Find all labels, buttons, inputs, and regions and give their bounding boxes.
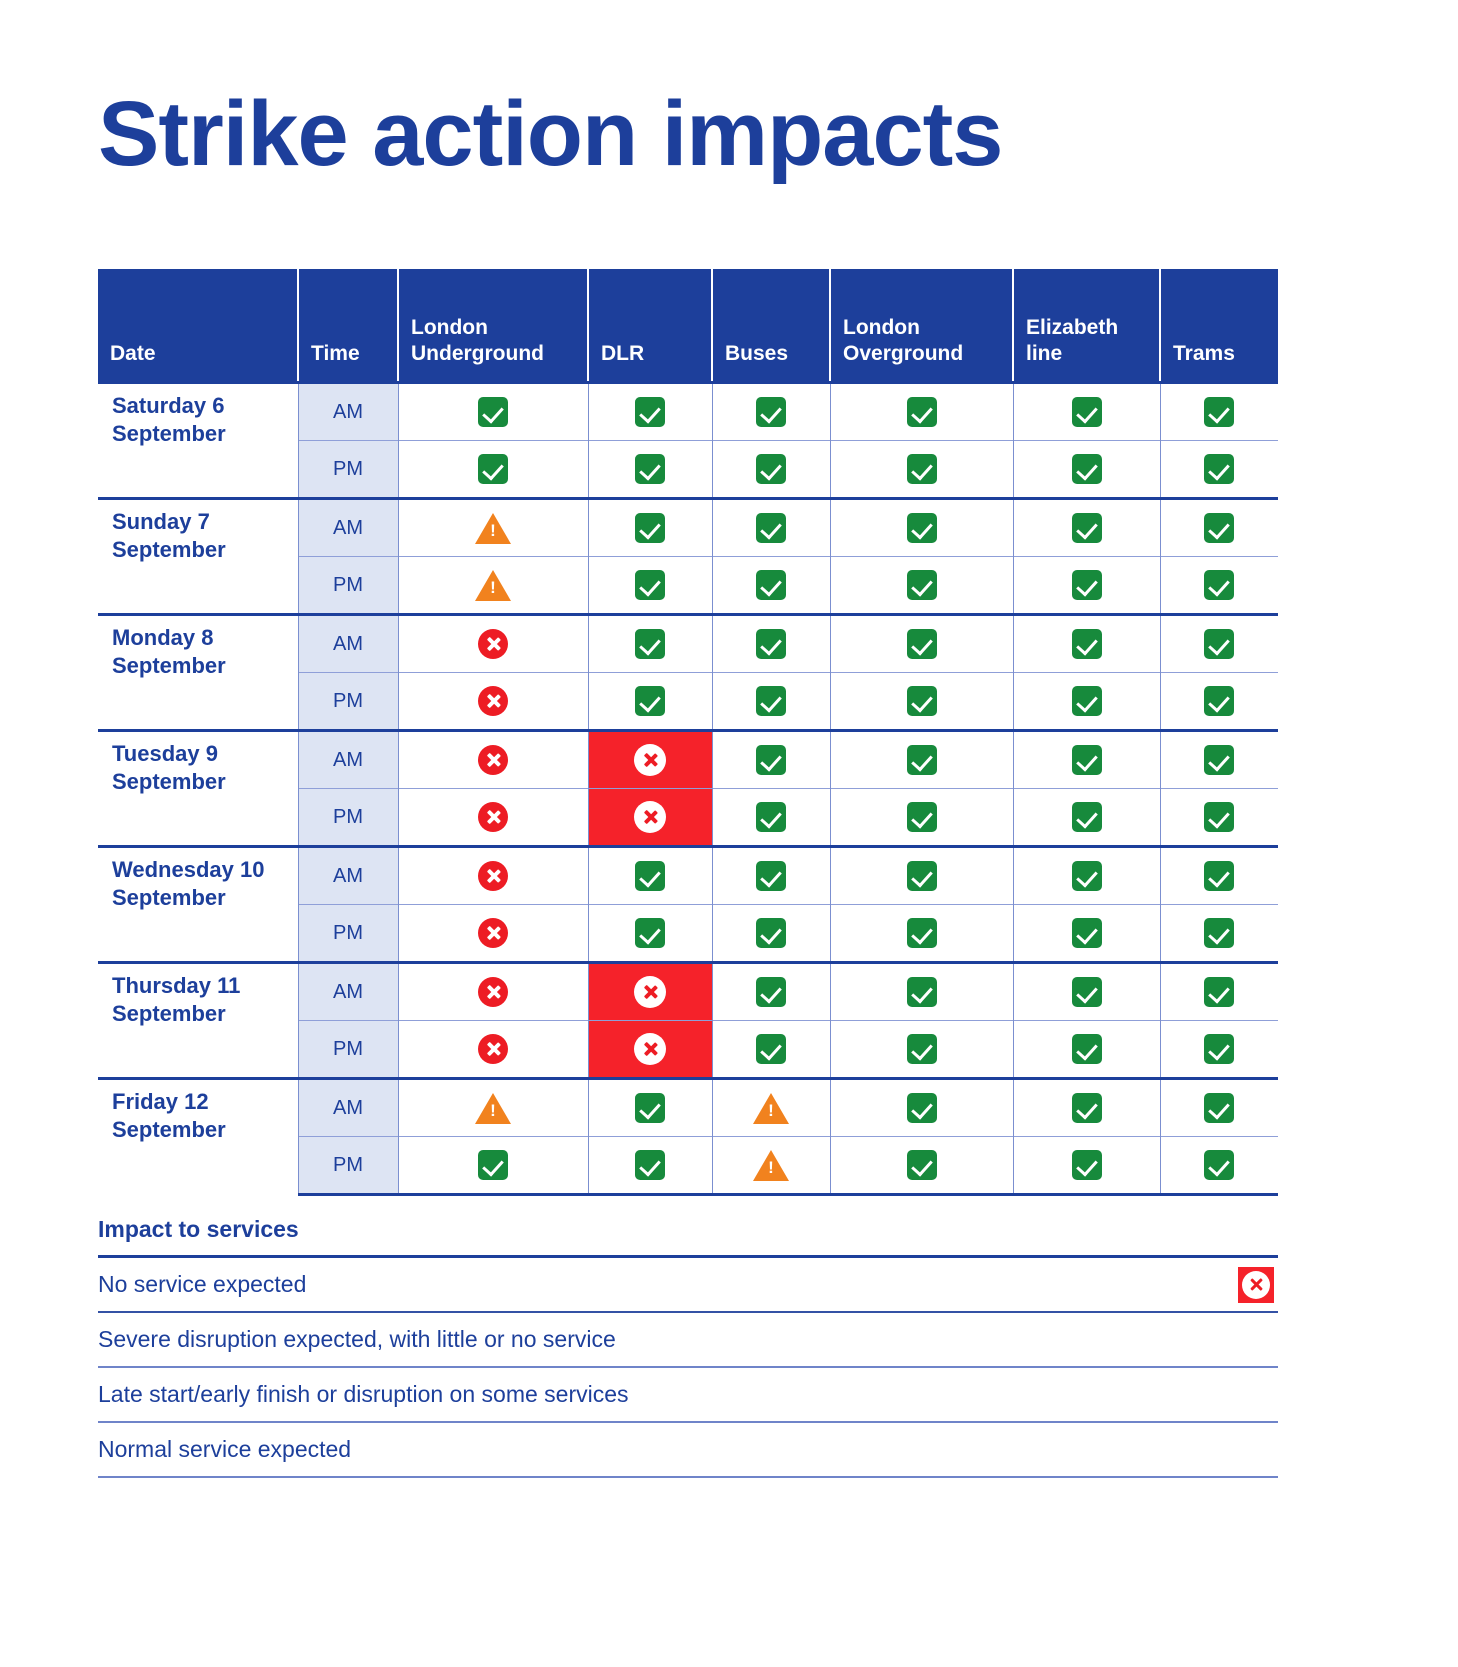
status-cell-elizabeth-line	[1013, 1137, 1160, 1195]
severe-disruption-icon	[478, 629, 508, 659]
status-cell-dlr	[588, 731, 712, 789]
status-cell-london-underground	[398, 557, 588, 615]
check-icon	[907, 397, 937, 427]
time-cell: PM	[298, 441, 398, 499]
status-cell-london-overground	[830, 499, 1013, 557]
check-icon	[756, 454, 786, 484]
status-cell-elizabeth-line	[1013, 673, 1160, 731]
legend-item-label: Normal service expected	[98, 1436, 351, 1463]
status-cell-dlr	[588, 615, 712, 673]
status-cell-london-underground	[398, 789, 588, 847]
check-icon	[1072, 686, 1102, 716]
status-cell-trams	[1160, 789, 1278, 847]
legend-item-icon	[1234, 1267, 1278, 1303]
check-icon	[756, 918, 786, 948]
status-cell-trams	[1160, 615, 1278, 673]
status-cell-trams	[1160, 1137, 1278, 1195]
check-icon	[1204, 570, 1234, 600]
status-cell-buses	[712, 557, 830, 615]
check-icon	[1072, 1150, 1102, 1180]
status-cell-dlr	[588, 789, 712, 847]
check-icon	[907, 570, 937, 600]
status-cell-buses	[712, 1021, 830, 1079]
column-header-elizabeth-line: Elizabethline	[1013, 269, 1160, 383]
check-icon	[1238, 1432, 1274, 1468]
check-icon	[1072, 454, 1102, 484]
status-cell-dlr	[588, 557, 712, 615]
status-cell-trams	[1160, 441, 1278, 499]
check-icon	[1204, 977, 1234, 1007]
check-icon	[1072, 1034, 1102, 1064]
check-icon	[635, 1093, 665, 1123]
check-icon	[1204, 629, 1234, 659]
time-cell: AM	[298, 1079, 398, 1137]
status-cell-london-overground	[830, 963, 1013, 1021]
status-cell-dlr	[588, 499, 712, 557]
impacts-table: DateTimeLondonUndergroundDLRBusesLondonO…	[98, 269, 1278, 1196]
check-icon	[907, 918, 937, 948]
check-icon	[1072, 918, 1102, 948]
impacts-table-body: Saturday 6 SeptemberAMPMSunday 7 Septemb…	[98, 383, 1278, 1195]
status-cell-dlr	[588, 1021, 712, 1079]
column-header-date: Date	[98, 269, 298, 383]
status-cell-dlr	[588, 1137, 712, 1195]
check-icon	[1072, 861, 1102, 891]
check-icon	[635, 861, 665, 891]
warning-triangle-icon	[753, 1150, 789, 1181]
status-cell-trams	[1160, 673, 1278, 731]
legend-item-icon	[1234, 1432, 1278, 1468]
check-icon	[635, 454, 665, 484]
status-cell-buses	[712, 905, 830, 963]
status-cell-london-underground	[398, 615, 588, 673]
status-cell-dlr	[588, 383, 712, 441]
status-cell-london-overground	[830, 1079, 1013, 1137]
time-cell: AM	[298, 731, 398, 789]
status-cell-trams	[1160, 963, 1278, 1021]
legend-item-label: No service expected	[98, 1271, 306, 1298]
check-icon	[1072, 570, 1102, 600]
check-icon	[907, 1150, 937, 1180]
column-header-trams: Trams	[1160, 269, 1278, 383]
status-cell-buses	[712, 847, 830, 905]
check-icon	[635, 513, 665, 543]
time-cell: PM	[298, 905, 398, 963]
check-icon	[1204, 513, 1234, 543]
status-cell-elizabeth-line	[1013, 557, 1160, 615]
status-cell-london-underground	[398, 847, 588, 905]
status-cell-london-underground	[398, 499, 588, 557]
check-icon	[1204, 397, 1234, 427]
status-cell-london-underground	[398, 1137, 588, 1195]
warning-triangle-icon	[475, 570, 511, 601]
warning-triangle-icon	[753, 1093, 789, 1124]
severe-disruption-icon	[478, 686, 508, 716]
date-cell: Saturday 6 September	[98, 383, 298, 499]
status-cell-london-overground	[830, 441, 1013, 499]
legend-rows: No service expectedSevere disruption exp…	[98, 1258, 1278, 1478]
status-cell-dlr	[588, 1079, 712, 1137]
time-cell: AM	[298, 499, 398, 557]
warning-triangle-icon	[475, 513, 511, 544]
legend-item: No service expected	[98, 1258, 1278, 1313]
status-cell-elizabeth-line	[1013, 441, 1160, 499]
status-cell-london-underground	[398, 441, 588, 499]
status-cell-trams	[1160, 905, 1278, 963]
status-cell-trams	[1160, 1021, 1278, 1079]
check-icon	[907, 861, 937, 891]
check-icon	[1204, 1034, 1234, 1064]
table-row: Friday 12 SeptemberAM	[98, 1079, 1278, 1137]
check-icon	[1204, 861, 1234, 891]
status-cell-trams	[1160, 731, 1278, 789]
status-cell-london-overground	[830, 673, 1013, 731]
severe-disruption-icon	[478, 1034, 508, 1064]
status-cell-london-underground	[398, 1021, 588, 1079]
status-cell-trams	[1160, 499, 1278, 557]
status-cell-elizabeth-line	[1013, 615, 1160, 673]
status-cell-london-underground	[398, 731, 588, 789]
legend-item: Normal service expected	[98, 1423, 1278, 1478]
legend-title: Impact to services	[98, 1216, 1278, 1258]
legend-item: Late start/early finish or disruption on…	[98, 1368, 1278, 1423]
check-icon	[635, 629, 665, 659]
legend-item-icon	[1234, 1322, 1278, 1358]
date-cell: Tuesday 9 September	[98, 731, 298, 847]
check-icon	[756, 745, 786, 775]
status-cell-elizabeth-line	[1013, 847, 1160, 905]
check-icon	[756, 570, 786, 600]
time-cell: PM	[298, 557, 398, 615]
check-icon	[907, 513, 937, 543]
time-cell: AM	[298, 383, 398, 441]
check-icon	[907, 977, 937, 1007]
status-cell-buses	[712, 789, 830, 847]
status-cell-trams	[1160, 1079, 1278, 1137]
status-cell-london-overground	[830, 789, 1013, 847]
time-cell: AM	[298, 615, 398, 673]
status-cell-elizabeth-line	[1013, 789, 1160, 847]
check-icon	[756, 513, 786, 543]
table-row: Tuesday 9 SeptemberAM	[98, 731, 1278, 789]
table-row: Monday 8 SeptemberAM	[98, 615, 1278, 673]
status-cell-london-overground	[830, 847, 1013, 905]
severe-disruption-icon	[478, 918, 508, 948]
time-cell: PM	[298, 673, 398, 731]
time-cell: PM	[298, 1137, 398, 1195]
impacts-table-container: DateTimeLondonUndergroundDLRBusesLondonO…	[98, 269, 1278, 1196]
status-cell-london-underground	[398, 1079, 588, 1137]
table-row: Sunday 7 SeptemberAM	[98, 499, 1278, 557]
status-cell-elizabeth-line	[1013, 1079, 1160, 1137]
check-icon	[756, 629, 786, 659]
check-icon	[907, 1034, 937, 1064]
header-row: DateTimeLondonUndergroundDLRBusesLondonO…	[98, 269, 1278, 383]
check-icon	[635, 686, 665, 716]
severe-disruption-icon	[1238, 1322, 1274, 1358]
impacts-table-head: DateTimeLondonUndergroundDLRBusesLondonO…	[98, 269, 1278, 383]
check-icon	[907, 745, 937, 775]
check-icon	[1204, 454, 1234, 484]
legend: Impact to services No service expectedSe…	[98, 1216, 1278, 1478]
status-cell-dlr	[588, 441, 712, 499]
no-service-icon	[1238, 1267, 1274, 1303]
status-cell-london-overground	[830, 383, 1013, 441]
status-cell-london-underground	[398, 383, 588, 441]
status-cell-buses	[712, 963, 830, 1021]
check-icon	[478, 397, 508, 427]
status-cell-trams	[1160, 383, 1278, 441]
check-icon	[1072, 629, 1102, 659]
status-cell-buses	[712, 615, 830, 673]
no-service-icon	[634, 744, 666, 776]
status-cell-london-underground	[398, 673, 588, 731]
status-cell-london-underground	[398, 905, 588, 963]
check-icon	[907, 454, 937, 484]
check-icon	[635, 570, 665, 600]
status-cell-london-overground	[830, 905, 1013, 963]
date-cell: Wednesday 10 September	[98, 847, 298, 963]
check-icon	[1072, 1093, 1102, 1123]
status-cell-dlr	[588, 905, 712, 963]
status-cell-london-overground	[830, 1021, 1013, 1079]
check-icon	[1204, 802, 1234, 832]
check-icon	[1072, 745, 1102, 775]
check-icon	[478, 1150, 508, 1180]
status-cell-london-overground	[830, 1137, 1013, 1195]
check-icon	[907, 802, 937, 832]
check-icon	[1204, 1150, 1234, 1180]
legend-item-label: Late start/early finish or disruption on…	[98, 1381, 629, 1408]
severe-disruption-icon	[478, 977, 508, 1007]
check-icon	[907, 1093, 937, 1123]
date-cell: Sunday 7 September	[98, 499, 298, 615]
no-service-icon	[634, 801, 666, 833]
check-icon	[907, 686, 937, 716]
check-icon	[907, 629, 937, 659]
status-cell-elizabeth-line	[1013, 1021, 1160, 1079]
time-cell: PM	[298, 789, 398, 847]
check-icon	[756, 861, 786, 891]
table-row: Thursday 11 SeptemberAM	[98, 963, 1278, 1021]
status-cell-buses	[712, 673, 830, 731]
table-row: Wednesday 10 SeptemberAM	[98, 847, 1278, 905]
status-cell-buses	[712, 383, 830, 441]
column-header-dlr: DLR	[588, 269, 712, 383]
severe-disruption-icon	[478, 745, 508, 775]
check-icon	[478, 454, 508, 484]
date-cell: Monday 8 September	[98, 615, 298, 731]
status-cell-dlr	[588, 847, 712, 905]
status-cell-trams	[1160, 557, 1278, 615]
time-cell: AM	[298, 963, 398, 1021]
check-icon	[635, 397, 665, 427]
time-cell: PM	[298, 1021, 398, 1079]
status-cell-dlr	[588, 963, 712, 1021]
check-icon	[635, 1150, 665, 1180]
status-cell-london-overground	[830, 557, 1013, 615]
check-icon	[1072, 397, 1102, 427]
warning-triangle-icon	[475, 1093, 511, 1124]
severe-disruption-icon	[478, 802, 508, 832]
status-cell-elizabeth-line	[1013, 963, 1160, 1021]
no-service-icon	[634, 976, 666, 1008]
check-icon	[1204, 686, 1234, 716]
column-header-time: Time	[298, 269, 398, 383]
column-header-buses: Buses	[712, 269, 830, 383]
strike-impacts-page: Strike action impacts DateTimeLondonUnde…	[0, 0, 1458, 1667]
check-icon	[756, 1034, 786, 1064]
date-cell: Thursday 11 September	[98, 963, 298, 1079]
check-icon	[1204, 1093, 1234, 1123]
check-icon	[1072, 977, 1102, 1007]
check-icon	[756, 802, 786, 832]
status-cell-dlr	[588, 673, 712, 731]
check-icon	[1204, 745, 1234, 775]
check-icon	[635, 918, 665, 948]
status-cell-elizabeth-line	[1013, 731, 1160, 789]
status-cell-london-overground	[830, 615, 1013, 673]
check-icon	[756, 686, 786, 716]
status-cell-buses	[712, 1137, 830, 1195]
table-row: Saturday 6 SeptemberAM	[98, 383, 1278, 441]
check-icon	[1072, 802, 1102, 832]
status-cell-buses	[712, 731, 830, 789]
time-cell: AM	[298, 847, 398, 905]
column-header-london-underground: LondonUnderground	[398, 269, 588, 383]
status-cell-buses	[712, 441, 830, 499]
status-cell-london-underground	[398, 963, 588, 1021]
legend-item: Severe disruption expected, with little …	[98, 1313, 1278, 1368]
status-cell-buses	[712, 1079, 830, 1137]
status-cell-elizabeth-line	[1013, 383, 1160, 441]
status-cell-elizabeth-line	[1013, 905, 1160, 963]
column-header-london-overground: LondonOverground	[830, 269, 1013, 383]
check-icon	[1204, 918, 1234, 948]
status-cell-london-overground	[830, 731, 1013, 789]
date-cell: Friday 12 September	[98, 1079, 298, 1195]
status-cell-trams	[1160, 847, 1278, 905]
page-title: Strike action impacts	[98, 84, 1002, 184]
check-icon	[1072, 513, 1102, 543]
check-icon	[756, 977, 786, 1007]
severe-disruption-icon	[478, 861, 508, 891]
check-icon	[756, 397, 786, 427]
status-cell-buses	[712, 499, 830, 557]
status-cell-elizabeth-line	[1013, 499, 1160, 557]
legend-item-label: Severe disruption expected, with little …	[98, 1326, 616, 1353]
no-service-icon	[634, 1033, 666, 1065]
